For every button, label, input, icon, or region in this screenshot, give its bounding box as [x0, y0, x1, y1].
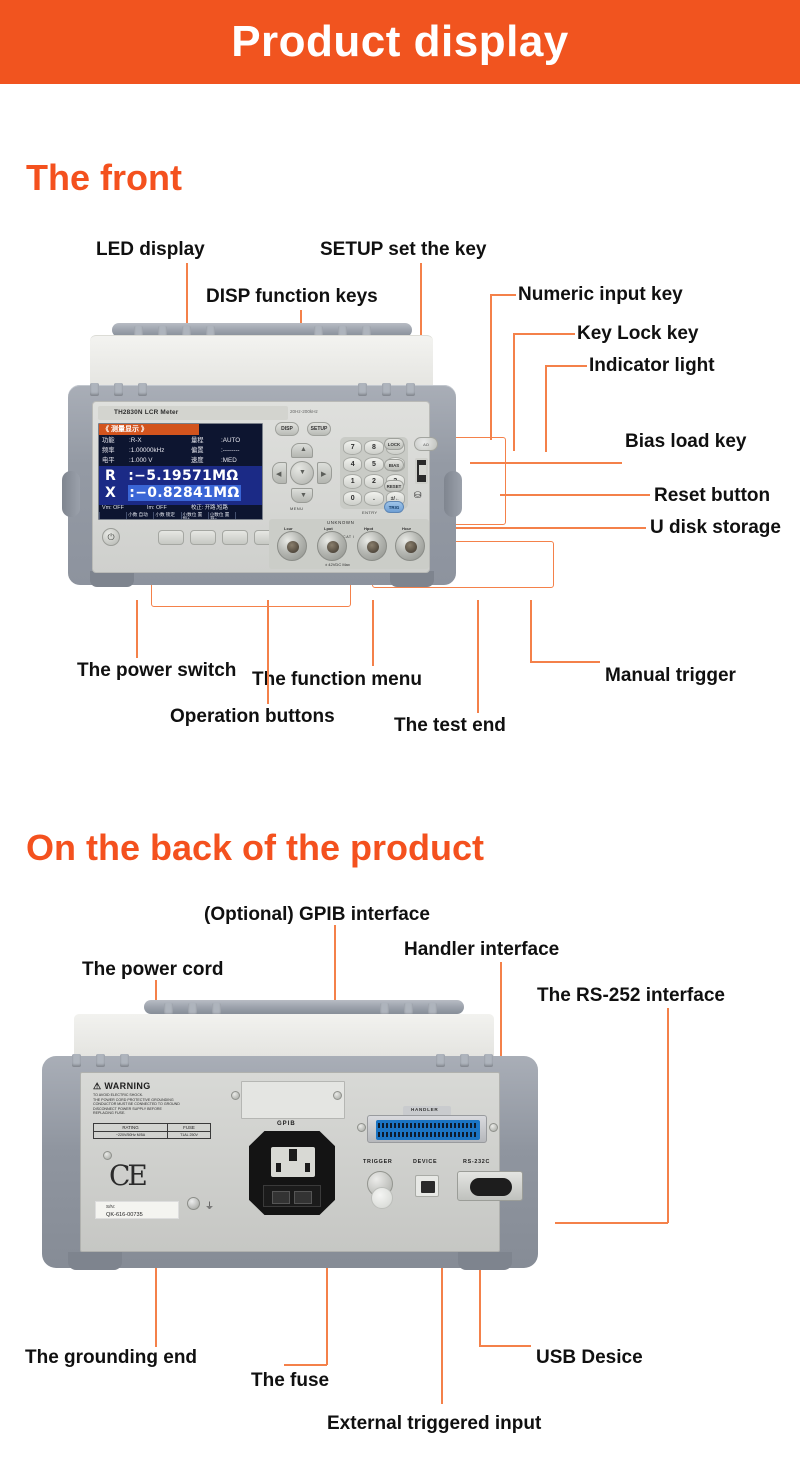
callout-operation-buttons: Operation buttons: [170, 707, 335, 727]
grounding-post[interactable]: [187, 1197, 200, 1210]
leader-indicator-v: [545, 365, 547, 452]
trigger-button[interactable]: TRIG: [384, 501, 404, 513]
lcd-param-key: 电平: [102, 456, 115, 465]
terminal-label-hcur: Hcur: [402, 526, 411, 531]
lcd-param-key2: 速度: [191, 456, 204, 465]
trigger-caption: TRIGGER: [363, 1159, 392, 1165]
test-terminal-panel: UNKNOWN CAT I Lcur Lpot Hpot Hcur ± 42VD…: [269, 519, 429, 569]
lcd-param-value2: :--------: [221, 446, 240, 455]
entry-caption: ENTRY: [362, 510, 377, 515]
key-dot[interactable]: .: [364, 491, 383, 506]
unknown-caption: UNKNOWN: [327, 520, 354, 525]
power-switch-button[interactable]: ⏻: [102, 528, 120, 546]
lcd-softkey[interactable]: 小数位 置减−: [208, 512, 235, 520]
rear-panel-face: ⚠ WARNING TO AVOID ELECTRIC SHOCK. THE P…: [80, 1072, 500, 1252]
lcd-status-cal: 校正: 开路,短路: [191, 505, 228, 512]
lcd-softkey[interactable]: [99, 512, 126, 520]
device-back-photo: ⚠ WARNING TO AVOID ELECTRIC SHOCK. THE P…: [34, 1000, 594, 1300]
terminal-hpot[interactable]: [357, 531, 387, 561]
setup-button[interactable]: SETUP: [307, 422, 331, 436]
terminal-hcur[interactable]: [395, 531, 425, 561]
callout-power-switch: The power switch: [77, 661, 236, 681]
lock-button[interactable]: LOCK: [384, 438, 404, 450]
key-0[interactable]: 0: [343, 491, 362, 506]
lcd-softkey[interactable]: 小数位 置加+: [181, 512, 208, 520]
model-label: TH2830N LCR Meter: [98, 406, 288, 420]
menu-caption: MENU: [290, 506, 303, 511]
case-rib: [484, 1054, 493, 1067]
lcd-param-key: 频率: [102, 446, 115, 455]
external-trigger-skirt: [371, 1187, 393, 1209]
usb-host-port[interactable]: [415, 458, 428, 484]
page-title: Product display: [231, 17, 569, 67]
screw: [103, 1151, 112, 1160]
ground-symbol-icon: ⏚: [205, 1199, 214, 1212]
terminal-label-hpot: Hpot: [364, 526, 373, 531]
rating-header-rating: RATING: [94, 1124, 168, 1131]
product-display-page: Product display The front LED display SE…: [0, 0, 800, 1462]
lcd-status-im: Im: OFF: [147, 505, 167, 512]
case-foot: [90, 571, 134, 587]
case-rib: [138, 383, 147, 396]
callout-setup-set-key: SETUP set the key: [320, 240, 487, 260]
lcd-reading-r-value: :−5.19571MΩ: [121, 468, 238, 484]
screw: [489, 1123, 498, 1132]
arrow-right-icon[interactable]: ▶: [317, 462, 332, 484]
back-foot: [68, 1252, 122, 1270]
rs232-caption: RS-232C: [463, 1159, 490, 1165]
leader-usb-device-h: [479, 1345, 531, 1347]
key-7[interactable]: 7: [343, 440, 362, 455]
callout-u-disk-storage: U disk storage: [650, 518, 781, 538]
callout-grounding-end: The grounding end: [25, 1348, 197, 1368]
callout-test-end: The test end: [394, 716, 506, 736]
fuse-holder[interactable]: [263, 1185, 321, 1207]
device-front-photo: TH2830N LCR Meter 20Hz-200kHz 《 测量显示 》 功…: [62, 323, 462, 618]
screw: [333, 1091, 342, 1100]
side-handle-right: [444, 471, 462, 517]
screw: [357, 1123, 366, 1132]
page-banner: Product display: [0, 0, 800, 84]
case-rib: [90, 383, 99, 396]
disp-button[interactable]: DISP: [275, 422, 299, 436]
terminal-label-lcur: Lcur: [284, 526, 293, 531]
section-heading-back: On the back of the product: [26, 827, 484, 869]
key-8[interactable]: 8: [364, 440, 383, 455]
key-5[interactable]: 5: [364, 457, 383, 472]
lcd-status-bar: Vm: OFF Im: OFF 校正: 开路,短路: [99, 505, 262, 512]
callout-manual-trigger: Manual trigger: [605, 666, 736, 686]
lcd-reading-r-label: R: [105, 468, 116, 484]
lcd-param-value: :1.000 V: [129, 456, 152, 465]
lcd-parameter-block: 功能 :R-X 量程 :AUTO 频率 :1.00000kHz 偏置 :----…: [99, 436, 262, 465]
callout-bias-load-key: Bias load key: [625, 432, 746, 452]
rating-value-fuse: T1AL 250V: [168, 1132, 210, 1139]
lcd-param-key2: 量程: [191, 436, 204, 445]
operation-button-1[interactable]: [158, 530, 184, 545]
case-rib: [120, 1054, 129, 1067]
gpib-slot-cover: [241, 1081, 345, 1119]
leader-test-end: [477, 600, 479, 713]
lcd-softkey[interactable]: [235, 512, 262, 520]
warning-title: ⚠ WARNING: [93, 1081, 151, 1092]
callout-usb-device: USB Desice: [536, 1348, 643, 1368]
usb-device-port[interactable]: [415, 1175, 439, 1197]
callout-led-display: LED display: [96, 240, 205, 260]
navigation-pad[interactable]: ▲ ▼ ◀ ▶ ▼: [272, 443, 332, 503]
usb-icon: ⛁: [414, 490, 422, 501]
leader-keylock-v: [513, 333, 515, 451]
screw: [231, 1091, 240, 1100]
key-2[interactable]: 2: [364, 474, 383, 489]
lcd-param-value2: :AUTO: [221, 436, 240, 445]
handler-connector-pins: [376, 1120, 480, 1140]
lcd-reading-x: X :−0.82841MΩ: [105, 485, 241, 501]
leader-keylock-h: [513, 333, 575, 335]
callout-disp-function-keys: DISP function keys: [206, 287, 378, 307]
gpib-caption: GPIB: [277, 1121, 296, 1127]
case-rib: [358, 383, 367, 396]
terminal-label-lpot: Lpot: [324, 526, 333, 531]
leader-fuse-h: [284, 1364, 327, 1366]
leader-manual-trigger-v: [530, 600, 532, 662]
callout-numeric-input-key: Numeric input key: [518, 285, 683, 305]
callout-indicator-light: Indicator light: [589, 356, 715, 376]
case-rib: [114, 383, 123, 396]
leader-manual-trigger-h: [530, 661, 600, 663]
lcd-param-key2: 偏置: [191, 446, 204, 455]
key-4[interactable]: 4: [343, 457, 362, 472]
operation-button-3[interactable]: [222, 530, 248, 545]
warning-body-text: TO AVOID ELECTRIC SHOCK. THE POWER CORD …: [93, 1093, 213, 1116]
device-caption: DEVICE: [413, 1159, 437, 1165]
callout-fuse: The fuse: [251, 1371, 329, 1391]
lcd-status-vm: Vm: OFF: [102, 505, 124, 512]
leader-u-disk: [430, 527, 646, 529]
case-foot: [390, 571, 434, 587]
case-rib: [436, 1054, 445, 1067]
lcd-param-value: :R-X: [129, 436, 142, 445]
reset-button[interactable]: RESET: [384, 480, 404, 492]
indicator-light: АΩ: [414, 437, 438, 451]
lcd-softkey[interactable]: 小数 锁定: [153, 512, 180, 520]
handler-connector[interactable]: [367, 1115, 487, 1143]
enter-center-button[interactable]: ▼: [290, 461, 314, 485]
serial-value: QK-616-00735: [106, 1210, 178, 1218]
back-foot: [458, 1252, 512, 1270]
lcd-measurement-area: R :−5.19571MΩ X :−0.82841MΩ: [99, 466, 262, 505]
rating-value-rating: ~220V/50Hz M/5A: [94, 1132, 168, 1139]
case-rib: [382, 383, 391, 396]
rs232-connector[interactable]: [457, 1171, 523, 1201]
leader-indicator-h: [545, 365, 587, 367]
lcd-param-value: :1.00000kHz: [129, 446, 164, 455]
ce-mark: CE: [109, 1159, 145, 1192]
arrow-up-icon[interactable]: ▲: [291, 443, 313, 458]
leader-rs252-v: [667, 1008, 669, 1223]
lcd-reading-x-value: :−0.82841MΩ: [128, 485, 240, 501]
lcd-title: 《 测量显示 》: [99, 424, 199, 435]
leader-reset-button: [500, 494, 650, 496]
lcd-reading-x-label: X: [105, 485, 116, 501]
rating-table: RATING FUSE ~220V/50Hz M/5A T1AL 250V: [93, 1123, 211, 1139]
callout-key-lock-key: Key Lock key: [577, 324, 698, 344]
lcd-softkey-bar: 小数 自动 小数 锁定 小数位 置加+ 小数位 置减−: [99, 512, 262, 520]
callout-gpib-interface: (Optional) GPIB interface: [204, 905, 430, 925]
case-rib: [96, 1054, 105, 1067]
lcd-param-value2: :MED: [221, 456, 237, 465]
lcd-reading-r: R :−5.19571MΩ: [105, 468, 239, 484]
frequency-range-label: 20Hz-200kHz: [290, 409, 318, 414]
handler-caption: HANDLER: [411, 1107, 438, 1112]
operation-button-2[interactable]: [190, 530, 216, 545]
arrow-down-icon[interactable]: ▼: [291, 488, 313, 503]
side-handle-left: [62, 471, 80, 517]
section-heading-front: The front: [26, 157, 182, 199]
lcd-display: 《 测量显示 》 功能 :R-X 量程 :AUTO 频率 :1.00000kHz…: [98, 423, 263, 520]
lcd-softkey[interactable]: 小数 自动: [126, 512, 153, 520]
serial-number-label: S/N: QK-616-00735: [95, 1201, 179, 1219]
case-rib: [460, 1054, 469, 1067]
rating-header-fuse: FUSE: [168, 1124, 210, 1131]
key-1[interactable]: 1: [343, 474, 362, 489]
case-rib: [406, 383, 415, 396]
terminal-lcur[interactable]: [277, 531, 307, 561]
callout-power-cord: The power cord: [82, 960, 223, 980]
terminal-lpot[interactable]: [317, 531, 347, 561]
callout-function-menu: The function menu: [252, 670, 422, 690]
power-inlet-ground-pin: [289, 1149, 297, 1161]
case-rib: [72, 1054, 81, 1067]
callout-handler-interface: Handler interface: [404, 940, 559, 960]
callout-external-trigger: External triggered input: [327, 1414, 541, 1434]
rs232-pins: [470, 1178, 512, 1196]
voltage-warning-caption: ± 42VDC Max: [325, 562, 350, 567]
leader-numeric-h: [490, 294, 516, 296]
arrow-left-icon[interactable]: ◀: [272, 462, 287, 484]
leader-numeric-v: [490, 294, 492, 440]
callout-reset-button: Reset button: [654, 486, 770, 506]
lcd-param-key: 功能: [102, 436, 115, 445]
bias-button[interactable]: BIAS: [384, 459, 404, 471]
